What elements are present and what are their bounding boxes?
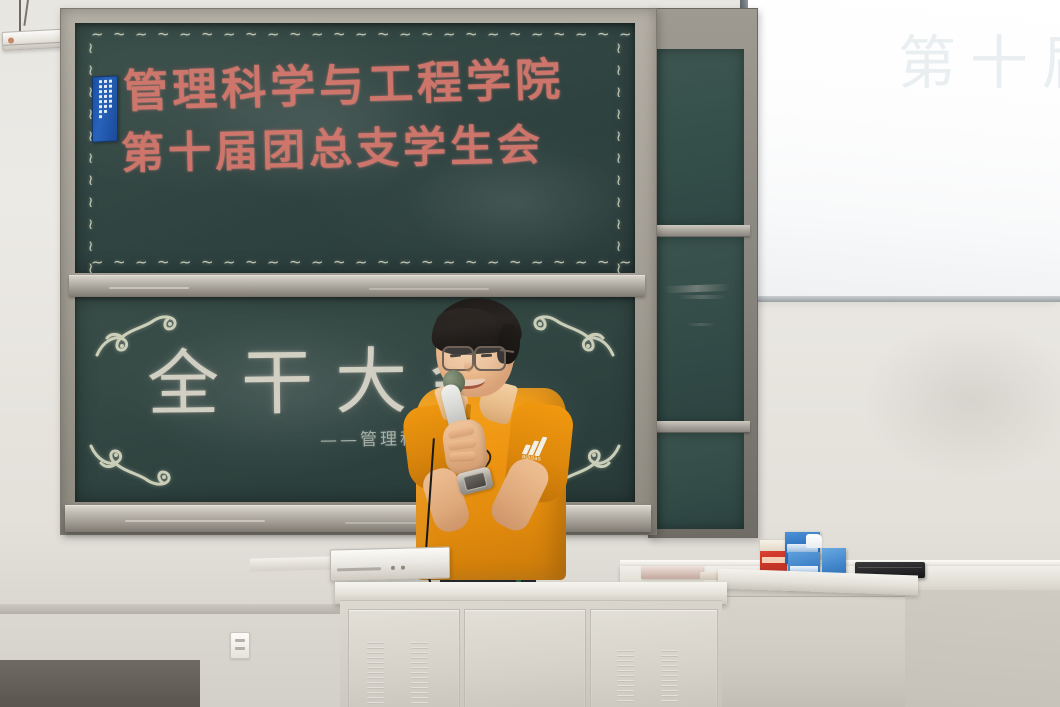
chalk-wave-motif: ~: [84, 218, 98, 238]
right-blackboard-panel-bottom: [656, 433, 744, 529]
chalk-wave-motif: ~: [612, 196, 626, 216]
blackboard-headline-line2: 第十届团总支学生会: [120, 111, 544, 182]
chalk-wave-motif: ~: [553, 26, 574, 41]
tissue-sheet: [806, 534, 822, 548]
chalk-wave-motif: ~: [333, 26, 354, 41]
chalk-wave-motif: ~: [421, 26, 442, 41]
chalk-wave-motif: ~: [91, 26, 112, 41]
chalk-wave-motif: ~: [267, 26, 288, 41]
chalk-wave-motif: ~: [84, 240, 98, 260]
chalk-wave-motif: ~: [575, 26, 596, 41]
right-blackboard-frame: [648, 8, 758, 538]
chalk-wave-motif: ~: [84, 262, 98, 273]
chalk-wave-motif: ~: [531, 254, 552, 269]
chalk-wave-motif: ~: [399, 26, 420, 41]
chalk-wave-motif: ~: [267, 254, 288, 269]
chalk-wave-motif: ~: [355, 26, 376, 41]
chalk-flourish-bottom-left: [85, 432, 177, 496]
wall-trim: [0, 604, 340, 614]
chalk-ledge: [652, 225, 750, 236]
chalk-wave-motif: ~: [612, 108, 626, 128]
chalk-ledge: [652, 421, 750, 432]
chalk-wave-motif: ~: [443, 254, 464, 269]
classroom-scene: 第十届 ~~~~~~~~~~~~~~~~~~~~~~~~~~ ~~~~~~~~~…: [0, 0, 1060, 707]
chalk-wave-motif: ~: [311, 26, 332, 41]
chalk-wave-motif: ~: [84, 42, 98, 62]
chalk-wave-motif: ~: [157, 26, 178, 41]
chalk-wave-motif: ~: [487, 254, 508, 269]
chalk-wave-motif: ~: [531, 26, 552, 41]
chalk-wave-motif: ~: [619, 26, 635, 41]
chalk-wave-motif: ~: [465, 26, 486, 41]
chalk-wave-motif: ~: [421, 254, 442, 269]
chalk-wave-motif: ~: [399, 254, 420, 269]
glasses-bridge: [469, 353, 476, 355]
chalk-wave-motif: ~: [223, 254, 244, 269]
presenter-nose: [464, 360, 473, 372]
floor-shadow-strip: [0, 660, 200, 707]
chalk-wave-motif: ~: [575, 254, 596, 269]
chalk-border-right: ~~~~~~~~~~~: [609, 45, 629, 273]
chalk-wave-motif: ~: [487, 26, 508, 41]
chalk-wave-motif: ~: [113, 254, 134, 269]
paper-stack: [641, 566, 703, 579]
chalk-wave-motif: ~: [377, 26, 398, 41]
chalk-wave-motif: ~: [509, 26, 530, 41]
chalk-wave-motif: ~: [179, 254, 200, 269]
presenter-hair-fringe: [436, 308, 496, 334]
chalk-wave-motif: ~: [84, 174, 98, 194]
chalk-wave-motif: ~: [443, 26, 464, 41]
projection-screen-text: 第十届: [898, 16, 1060, 100]
chalk-wave-motif: ~: [157, 254, 178, 269]
chalk-wave-motif: ~: [509, 254, 530, 269]
upper-blackboard: ~~~~~~~~~~~~~~~~~~~~~~~~~~ ~~~~~~~~~~~~~…: [75, 23, 635, 273]
light-hanger-rod: [19, 0, 21, 32]
projection-screen: 第十届: [748, 0, 1060, 300]
chalk-wave-motif: ~: [201, 254, 222, 269]
chalk-wave-motif: ~: [597, 26, 618, 41]
chalk-wave-motif: ~: [465, 254, 486, 269]
chalk-wave-motif: ~: [612, 262, 626, 273]
chalk-wave-motif: ~: [84, 196, 98, 216]
chalk-wave-motif: ~: [245, 254, 266, 269]
chalk-border-top: ~~~~~~~~~~~~~~~~~~~~~~~~~~: [91, 27, 635, 41]
blue-vertical-banner: [92, 75, 118, 142]
chalk-wave-motif: ~: [612, 130, 626, 150]
podium-equipment-box: [330, 546, 450, 581]
chalk-wave-motif: ~: [553, 254, 574, 269]
chalk-wave-motif: ~: [201, 26, 222, 41]
chalk-wave-motif: ~: [135, 254, 156, 269]
chalk-wave-motif: ~: [612, 174, 626, 194]
podium-panel[interactable]: [464, 609, 586, 707]
chalk-wave-motif: ~: [289, 26, 310, 41]
power-outlet-icon: [230, 632, 250, 659]
podium-cabinet: [340, 600, 722, 707]
projection-screen-bottom-bar: [740, 296, 1060, 302]
chalk-wave-motif: ~: [612, 64, 626, 84]
chalk-ledge-middle: [69, 275, 645, 296]
right-blackboard-panel-top: [656, 49, 744, 227]
chalk-wave-motif: ~: [612, 86, 626, 106]
chalk-wave-motif: ~: [612, 42, 626, 62]
chalk-wave-motif: ~: [289, 254, 310, 269]
podium-panel[interactable]: [590, 609, 718, 707]
right-blackboard-panel-mid: [656, 237, 744, 423]
chalk-wave-motif: ~: [333, 254, 354, 269]
chalk-border-bottom: ~~~~~~~~~~~~~~~~~~~~~~~~~~: [91, 255, 635, 269]
chalk-wave-motif: ~: [223, 26, 244, 41]
chalk-wave-motif: ~: [612, 152, 626, 172]
chalk-wave-motif: ~: [612, 240, 626, 260]
blackboard-headline-line1: 管理科学与工程学院: [122, 43, 565, 120]
chalk-wave-motif: ~: [612, 218, 626, 238]
chalk-wave-motif: ~: [179, 26, 200, 41]
chalk-wave-motif: ~: [135, 26, 156, 41]
chalk-wave-motif: ~: [355, 254, 376, 269]
chalk-wave-motif: ~: [84, 152, 98, 172]
back-counter-right: [905, 590, 1060, 707]
chalk-wave-motif: ~: [245, 26, 266, 41]
chalk-wave-motif: ~: [377, 254, 398, 269]
chalk-wave-motif: ~: [311, 254, 332, 269]
podium-panel[interactable]: [348, 609, 460, 707]
chalk-wave-motif: ~: [113, 26, 134, 41]
